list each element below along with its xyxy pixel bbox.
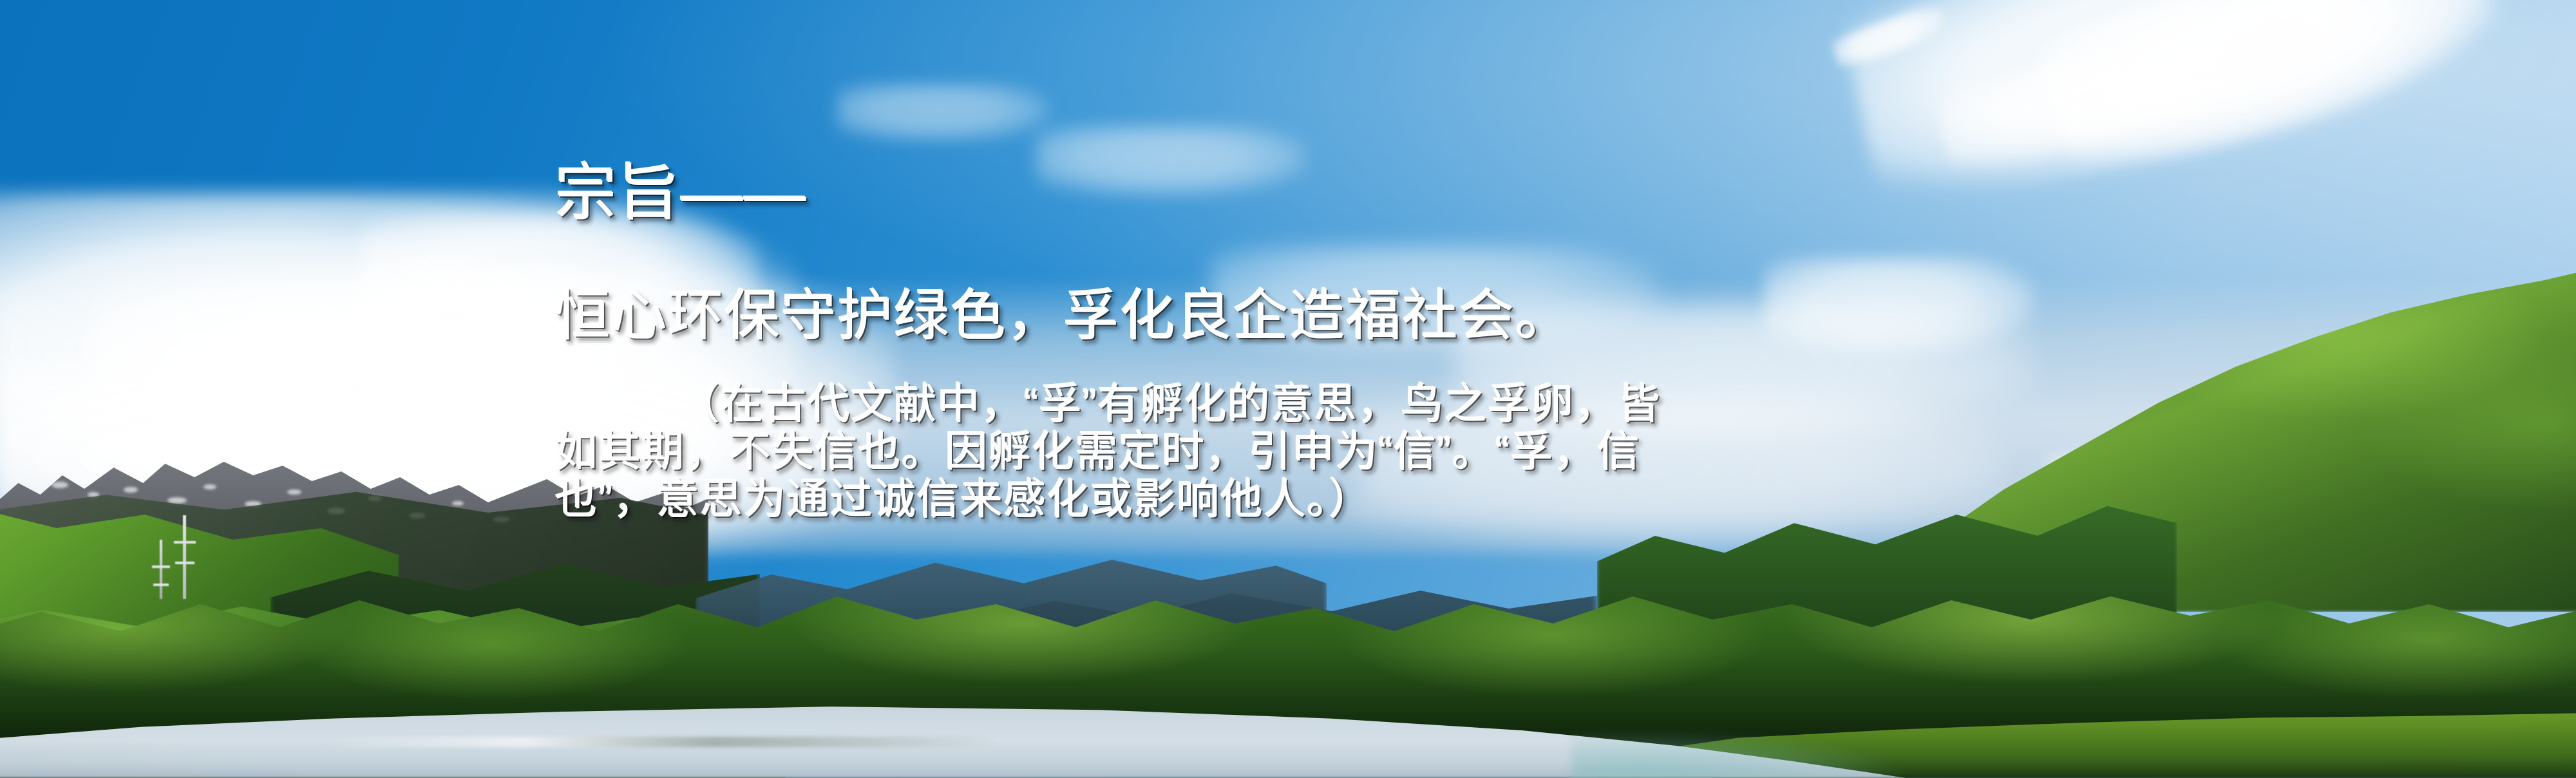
banner-title: 宗旨—— <box>555 143 808 232</box>
banner-paragraph: （在古代文献中，“孚”有孵化的意思，鸟之孚卵，皆 如其期，不失信也。因孵化需定时… <box>555 380 2036 523</box>
banner-headline: 恒心环保守护绿色，孚化良企造福社会。 <box>555 270 1572 351</box>
paragraph-line-3: 也”，意思为通过诚信来感化或影响他人。） <box>555 475 2036 523</box>
paragraph-line-2: 如其期，不失信也。因孵化需定时，引申为“信”。“孚，信 <box>555 428 2036 475</box>
paragraph-line-1: （在古代文献中，“孚”有孵化的意思，鸟之孚卵，皆 <box>555 380 2036 428</box>
banner-text-layer: 宗旨—— 恒心环保守护绿色，孚化良企造福社会。 （在古代文献中，“孚”有孵化的意… <box>0 0 2576 778</box>
banner-image: 宗旨—— 恒心环保守护绿色，孚化良企造福社会。 （在古代文献中，“孚”有孵化的意… <box>0 0 2576 778</box>
